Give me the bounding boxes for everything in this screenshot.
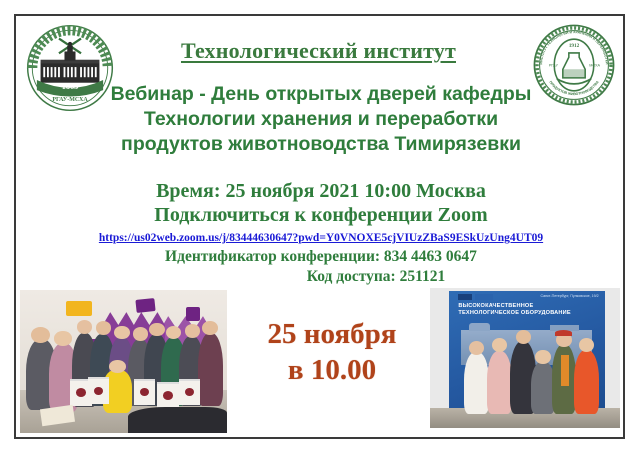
photo-bag [179, 379, 200, 405]
seal-mark-left: РГАУ [549, 64, 559, 68]
photo-purple-sign-1 [135, 298, 155, 313]
poster-frame: 1865 РГАУ-МСХА 1912 РГАУ МСХА ИНСТИТУТ Т… [14, 14, 625, 439]
photo-person-head [96, 321, 112, 335]
banner-subtitle: Санкт-Петербург, Пулковское, 19/2 [541, 294, 599, 298]
photo-person-head [133, 327, 149, 341]
photo-bag [157, 382, 180, 410]
webinar-title-line-2: Технологии хранения и переработки [86, 107, 556, 132]
photo-person-head [77, 320, 93, 334]
access-code: Код доступа: 251121 [56, 267, 586, 287]
group-photo-students-with-bags [20, 290, 227, 433]
photo-person-head [54, 331, 72, 345]
photo-person [574, 350, 599, 414]
photo-orange-scarf [561, 355, 569, 386]
photo-person [464, 352, 489, 414]
photo-person [198, 333, 223, 406]
photo-person-head [31, 327, 50, 343]
meeting-info-block: Время: 25 ноября 2021 10:00 Москва Подкл… [56, 179, 586, 287]
webinar-title: Вебинар - День открытых дверей кафедры Т… [86, 82, 556, 157]
banner-logo-1 [458, 294, 472, 300]
photo-person-head [185, 324, 201, 338]
photo-person-head [535, 350, 550, 364]
photo-yellow-sign [66, 301, 93, 315]
institute-title: Технологический институт [116, 38, 521, 64]
seal-arc-text-left: РГАУ-МСХА [52, 97, 88, 103]
webinar-title-line-1: Вебинар - День открытых дверей кафедры [86, 82, 556, 107]
seal-year-left: 1865 [62, 82, 79, 91]
seal-year-right: 1912 [569, 43, 580, 49]
event-date-line-1: 25 ноября [232, 316, 432, 352]
webinar-title-line-3: продуктов животноводства Тимирязевки [86, 132, 556, 157]
zoom-meeting-link[interactable]: https://us02web.zoom.us/j/83444630647?pw… [56, 232, 586, 244]
conference-id: Идентификатор конференции: 834 4463 0647 [56, 247, 586, 267]
seal-mark-right: МСХА [589, 64, 600, 68]
banner-heading-line-2: ТЕХНОЛОГИЧЕСКОЕ ОБОРУДОВАНИЕ [458, 310, 595, 318]
banner-logo-2 [475, 294, 492, 300]
banner-heading-line-1: ВЫСОКОКАЧЕСТВЕННОЕ [458, 303, 595, 311]
event-date-line-2: в 10.00 [232, 352, 432, 388]
photo-person-head [202, 321, 218, 335]
photo-person [487, 351, 512, 414]
photo-bag [134, 379, 155, 405]
photo-person-head [109, 360, 126, 373]
group-photo-students-at-banner: Санкт-Петербург, Пулковское, 19/2 ВЫСОКО… [430, 288, 620, 428]
photo-purple-sign-2 [186, 307, 200, 321]
meeting-time: Время: 25 ноября 2021 10:00 Москва [56, 179, 586, 203]
banner-heading: ВЫСОКОКАЧЕСТВЕННОЕ ТЕХНОЛОГИЧЕСКОЕ ОБОРУ… [458, 303, 595, 318]
photo-bag [88, 377, 109, 403]
photo-foreground-boots [128, 407, 227, 433]
photo-person-head [516, 330, 531, 344]
event-date-highlight: 25 ноября в 10.00 [232, 316, 432, 388]
photo-red-cap [555, 330, 572, 336]
photo-person-head [114, 326, 130, 340]
join-instruction: Подключиться к конференции Zoom [56, 203, 586, 227]
